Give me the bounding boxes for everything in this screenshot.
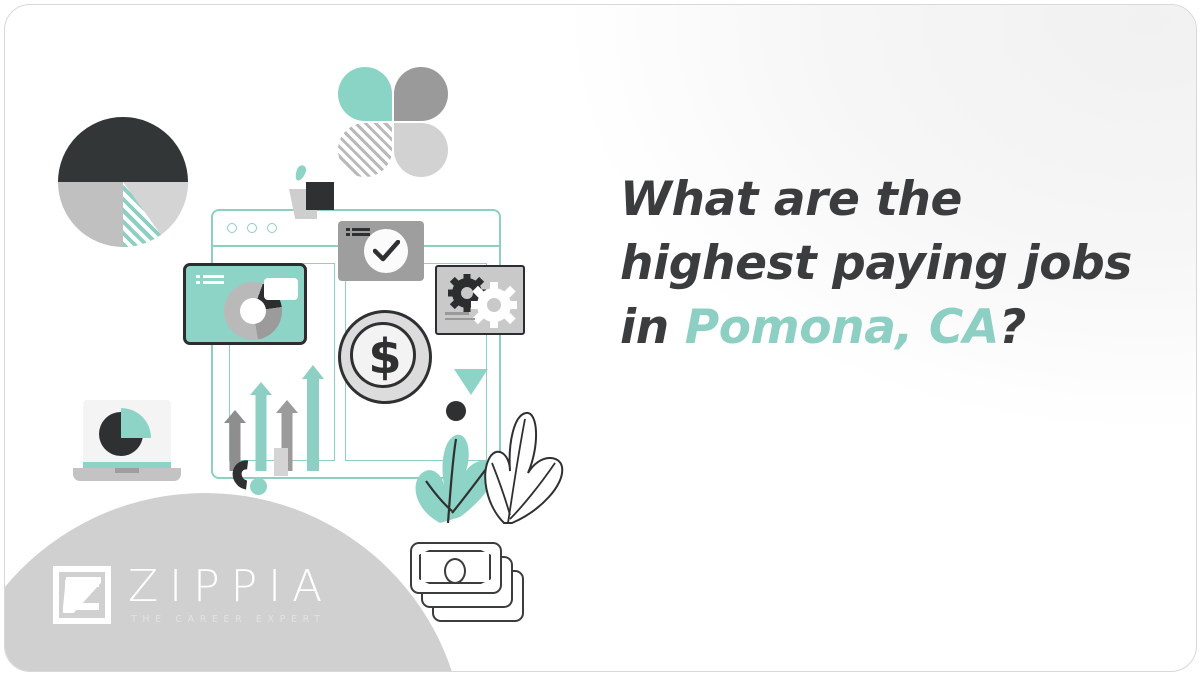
check-circle [364,229,408,273]
zippia-logo[interactable]: ZIPPIA THE CAREER EXPERT [53,565,333,625]
clover-chart-icon [338,67,448,177]
decorative-square [306,182,334,210]
page-title: What are the highest paying jobs in Pomo… [620,168,1150,360]
laptop-chart-icon [73,400,181,488]
headline-location: Pomona, CA [685,300,999,355]
gear-icon [471,282,517,328]
banner-card: $ [4,4,1197,672]
triangle-icon [454,369,488,395]
browser-dot-icon [267,223,277,233]
browser-dot-icon [227,223,237,233]
small-leaf-icon [293,164,307,182]
zippia-logo-mark-icon [53,566,111,624]
dashboard-card-teal [183,263,307,345]
headline-prefix: in [620,300,685,355]
check-icon [373,240,400,263]
plant-leaves-icon [400,405,570,525]
checkmark-card [338,221,424,281]
list-icon [346,228,370,239]
banknotes-icon [410,540,526,626]
headline-line-2: highest paying jobs [620,232,1150,296]
logo-tagline: THE CAREER EXPERT [131,614,333,625]
settings-gears-card [435,265,525,335]
browser-dot-icon [247,223,257,233]
tooltip-shape [264,278,298,300]
headline-suffix: ? [999,300,1026,355]
logo-wordmark: ZIPPIA [128,565,333,609]
logo-text-block: ZIPPIA THE CAREER EXPERT [128,565,333,625]
headline-line-3: in Pomona, CA? [620,296,1150,360]
list-icon [196,275,224,288]
dollar-sign: $ [338,310,432,404]
headline-line-1: What are the [620,168,1150,232]
decorative-bar [274,448,288,476]
pie-chart-icon [58,117,188,247]
dollar-coin-icon: $ [338,310,432,404]
text-lines-placeholder [445,312,475,323]
